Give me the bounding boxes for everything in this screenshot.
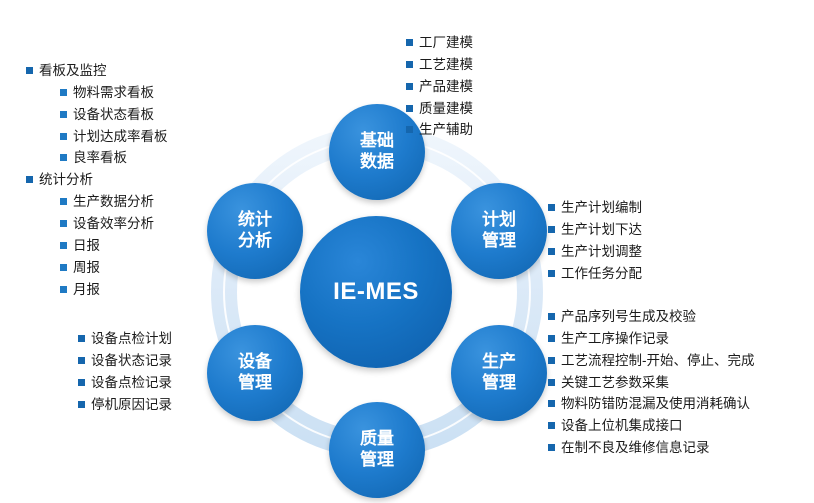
bullet-square-icon [406,39,413,46]
list-item: 设备点检计划 [78,328,172,350]
bullet-square-icon [406,83,413,90]
bullet-square-icon [548,335,555,342]
list-item: 生产数据分析 [26,191,168,213]
bullet-square-icon [60,220,67,227]
bullet-square-icon [548,248,555,255]
bullet-square-icon [78,335,85,342]
list-item: 工艺建模 [406,54,473,76]
list-item: 生产计划下达 [548,219,642,241]
node-center-iemes[interactable]: IE-MES [300,216,452,368]
bullet-square-icon [26,67,33,74]
list-item: 工作任务分配 [548,263,642,285]
label-group-basic-data: 工厂建模工艺建模产品建模质量建模生产辅助 [406,32,473,141]
bullet-square-icon [60,286,67,293]
list-item: 设备状态记录 [78,350,172,372]
list-item-label: 看板及监控 [39,60,107,82]
node-center-label: IE-MES [333,277,419,306]
bullet-square-icon [548,226,555,233]
bullet-square-icon [60,198,67,205]
node-production-management[interactable]: 生产管理 [451,325,547,421]
list-item-label: 设备上位机集成接口 [561,415,683,437]
bullet-square-icon [78,379,85,386]
list-item-label: 日报 [73,235,100,257]
bullet-square-icon [78,357,85,364]
list-item: 计划达成率看板 [26,126,168,148]
list-item: 良率看板 [26,147,168,169]
node-equipment-management[interactable]: 设备管理 [207,325,303,421]
list-item: 看板及监控 [26,60,168,82]
bullet-square-icon [60,264,67,271]
bullet-square-icon [406,126,413,133]
list-item-label: 产品建模 [419,76,473,98]
list-item-label: 质量建模 [419,98,473,120]
bullet-square-icon [548,444,555,451]
list-item-label: 工艺流程控制-开始、停止、完成 [561,350,755,372]
list-item: 工厂建模 [406,32,473,54]
node-statistical-analysis[interactable]: 统计分析 [207,183,303,279]
node-quality-management[interactable]: 质量管理 [329,402,425,498]
list-item-label: 停机原因记录 [91,394,172,416]
list-item-label: 生产数据分析 [73,191,154,213]
list-item: 停机原因记录 [78,394,172,416]
list-item-label: 统计分析 [39,169,93,191]
list-item-label: 工作任务分配 [561,263,642,285]
list-item-label: 设备效率分析 [73,213,154,235]
node-plan-management-label: 计划管理 [482,210,516,251]
node-plan-management[interactable]: 计划管理 [451,183,547,279]
bullet-square-icon [60,133,67,140]
bullet-square-icon [406,61,413,68]
bullet-square-icon [60,242,67,249]
list-item: 月报 [26,279,168,301]
list-item-label: 设备状态记录 [91,350,172,372]
list-item: 工艺流程控制-开始、停止、完成 [548,350,755,372]
list-item-label: 良率看板 [73,147,127,169]
bullet-square-icon [548,313,555,320]
bullet-square-icon [406,105,413,112]
list-item: 产品建模 [406,76,473,98]
node-equipment-management-label: 设备管理 [238,352,272,393]
list-item: 设备上位机集成接口 [548,415,755,437]
bullet-square-icon [60,154,67,161]
list-item-label: 生产计划下达 [561,219,642,241]
bullet-square-icon [78,401,85,408]
list-item-label: 设备状态看板 [73,104,154,126]
list-item: 生产辅助 [406,119,473,141]
diagram-canvas: 基础数据 计划管理 生产管理 质量管理 设备管理 统计分析 IE-MES 工厂建… [0,0,814,503]
list-item: 产品序列号生成及校验 [548,306,755,328]
list-item: 生产计划调整 [548,241,642,263]
list-item: 设备点检记录 [78,372,172,394]
list-item: 质量建模 [406,98,473,120]
list-item-label: 生产计划调整 [561,241,642,263]
node-production-management-label: 生产管理 [482,352,516,393]
bullet-square-icon [26,176,33,183]
label-group-equipment-management: 设备点检计划设备状态记录设备点检记录停机原因记录 [78,328,172,415]
bullet-square-icon [548,400,555,407]
list-item: 周报 [26,257,168,279]
list-item-label: 物料防错防混漏及使用消耗确认 [561,393,750,415]
list-item: 在制不良及维修信息记录 [548,437,755,459]
list-item-label: 生产计划编制 [561,197,642,219]
bullet-square-icon [60,89,67,96]
bullet-square-icon [548,204,555,211]
list-item-label: 关键工艺参数采集 [561,372,669,394]
list-item-label: 周报 [73,257,100,279]
node-statistical-analysis-label: 统计分析 [238,210,272,251]
list-item-label: 生产工序操作记录 [561,328,669,350]
list-item: 生产工序操作记录 [548,328,755,350]
list-item: 生产计划编制 [548,197,642,219]
bullet-square-icon [548,422,555,429]
list-item-label: 计划达成率看板 [73,126,168,148]
list-item: 统计分析 [26,169,168,191]
label-group-statistical-analysis: 看板及监控物料需求看板设备状态看板计划达成率看板良率看板统计分析生产数据分析设备… [26,60,168,300]
label-group-production-management: 产品序列号生成及校验生产工序操作记录工艺流程控制-开始、停止、完成关键工艺参数采… [548,306,755,459]
list-item-label: 设备点检计划 [91,328,172,350]
node-quality-management-label: 质量管理 [360,429,394,470]
label-group-plan-management: 生产计划编制生产计划下达生产计划调整工作任务分配 [548,197,642,284]
list-item-label: 产品序列号生成及校验 [561,306,696,328]
bullet-square-icon [548,270,555,277]
list-item: 设备状态看板 [26,104,168,126]
list-item-label: 月报 [73,279,100,301]
bullet-square-icon [60,111,67,118]
bullet-square-icon [548,379,555,386]
list-item: 关键工艺参数采集 [548,372,755,394]
list-item-label: 工艺建模 [419,54,473,76]
list-item-label: 在制不良及维修信息记录 [561,437,710,459]
list-item-label: 物料需求看板 [73,82,154,104]
list-item-label: 设备点检记录 [91,372,172,394]
list-item: 物料防错防混漏及使用消耗确认 [548,393,755,415]
list-item-label: 生产辅助 [419,119,473,141]
node-basic-data-label: 基础数据 [360,131,394,172]
list-item-label: 工厂建模 [419,32,473,54]
list-item: 日报 [26,235,168,257]
bullet-square-icon [548,357,555,364]
list-item: 设备效率分析 [26,213,168,235]
list-item: 物料需求看板 [26,82,168,104]
